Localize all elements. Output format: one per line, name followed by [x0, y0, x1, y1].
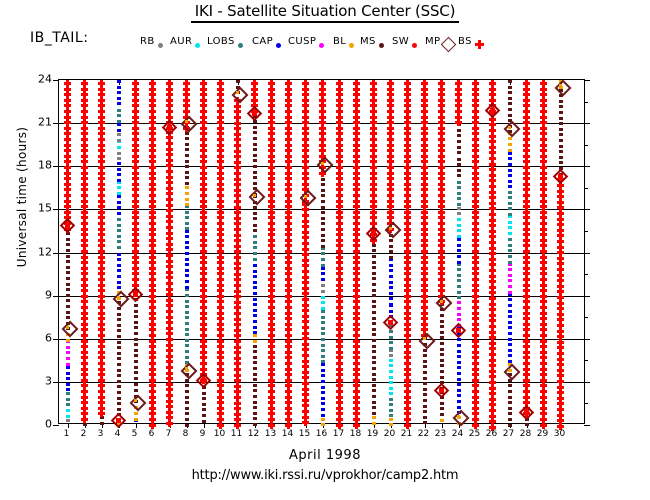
region-sample-bl: [389, 423, 393, 426]
region-sample-cap: [117, 253, 121, 256]
region-sample-cap: [457, 249, 461, 252]
region-sample-ms: [117, 402, 121, 405]
region-sample-lobs: [508, 244, 512, 247]
legend-item-cusp: CUSP: [288, 33, 324, 51]
plot-area: [58, 79, 585, 424]
x-axis-title: April 1998: [0, 448, 650, 463]
magnetopause-crossing-center: [423, 337, 426, 340]
y-axis-tick: [53, 425, 59, 426]
region-sample-ms: [185, 154, 189, 157]
region-sample-cap: [389, 292, 393, 295]
region-sample-ms: [134, 360, 138, 363]
bow-shock-crossing-marker: [164, 122, 175, 133]
region-sample-cap: [117, 281, 121, 284]
region-sample-ms: [134, 354, 138, 357]
region-sample-ms: [66, 260, 70, 263]
region-sample-cap: [253, 314, 257, 317]
y-axis-minor-tick: [584, 145, 588, 146]
region-sample-ms: [372, 272, 376, 275]
region-sample-ms: [372, 395, 376, 398]
region-sample-ms: [134, 371, 138, 374]
region-sample-ms: [253, 176, 257, 179]
day-column: [149, 80, 156, 423]
region-sample-ms: [66, 294, 70, 297]
region-sample-ms: [185, 396, 189, 399]
region-sample-cap: [389, 286, 393, 289]
region-sample-cap: [185, 269, 189, 272]
region-sample-ms: [508, 108, 512, 111]
bow-shock-marker: [404, 422, 411, 429]
bow-shock-marker: [268, 422, 275, 429]
x-axis-tick-label: 9: [200, 429, 206, 439]
region-sample-cap: [457, 406, 461, 409]
region-sample-ms: [117, 397, 121, 400]
region-sample-lobs: [389, 341, 393, 344]
x-axis-tick-label: 15: [299, 429, 310, 439]
y-axis-tick: [584, 339, 590, 340]
region-sample-lobs: [66, 398, 70, 401]
region-sample-ms: [423, 410, 427, 413]
region-sample-cap: [66, 372, 70, 375]
legend-item-label: AUR: [170, 33, 192, 51]
region-sample-lobs: [185, 211, 189, 214]
region-sample-ms: [66, 266, 70, 269]
region-sample-ms: [253, 378, 257, 381]
day-column: [557, 80, 564, 423]
region-sample-ms: [117, 307, 121, 310]
region-sample-cap: [66, 388, 70, 391]
region-sample-aur: [457, 224, 461, 227]
magnetopause-crossing-marker: [452, 410, 469, 427]
region-sample-cap: [457, 350, 461, 353]
region-sample-cap: [117, 80, 121, 83]
region-sample-lobs: [389, 403, 393, 406]
region-sample-ms: [253, 417, 257, 420]
day-column: [387, 80, 394, 423]
region-sample-cap: [389, 264, 393, 267]
x-axis-tick-label: 24: [452, 429, 463, 439]
region-sample-ms: [457, 146, 461, 149]
region-sample-cap: [508, 157, 512, 160]
bow-shock-crossing-marker: [130, 289, 141, 300]
region-sample-ms: [202, 392, 206, 395]
region-sample-cap: [66, 383, 70, 386]
region-sample-cap: [117, 258, 121, 261]
x-axis-tick-label: 10: [214, 429, 225, 439]
region-sample-cap: [117, 91, 121, 94]
day-column: [319, 80, 326, 423]
region-sample-ms: [253, 423, 257, 426]
day-column: [98, 80, 105, 423]
region-sample-ms: [185, 148, 189, 151]
region-sample-ms: [372, 373, 376, 376]
region-sample-cap: [117, 162, 121, 165]
region-sample-ms: [134, 366, 138, 369]
region-sample-lobs: [508, 191, 512, 194]
bow-shock-marker: [234, 422, 241, 429]
y-axis-tick: [584, 425, 590, 426]
x-axis-tick-label: 28: [520, 429, 531, 439]
region-sample-ms: [372, 401, 376, 404]
region-sample-ms: [440, 320, 444, 323]
region-sample-ms: [185, 182, 189, 185]
region-sample-cap: [253, 320, 257, 323]
y-axis-tick: [584, 80, 590, 81]
day-column: [234, 80, 241, 423]
region-sample-lobs: [117, 120, 121, 123]
bow-shock-marker: [285, 422, 292, 429]
bow-shock-marker: [81, 416, 88, 423]
region-sample-ms: [117, 369, 121, 372]
region-sample-lobs: [117, 229, 121, 232]
region-sample-cap: [457, 378, 461, 381]
x-axis-tick-label: 8: [183, 429, 189, 439]
y-axis-tick-label: 18: [26, 159, 52, 172]
day-column: [438, 80, 445, 423]
legend-item-sw: SW: [392, 33, 417, 51]
crossing-center: [167, 125, 172, 130]
day-column: [455, 80, 462, 423]
region-sample-ms: [185, 384, 189, 387]
region-sample-cap: [321, 402, 325, 405]
region-sample-ms: [117, 318, 121, 321]
region-sample-ms: [66, 288, 70, 291]
region-sample-rb: [66, 419, 70, 422]
region-sample-ms: [253, 212, 257, 215]
region-sample-ms: [253, 137, 257, 140]
region-sample-ms: [508, 114, 512, 117]
x-axis-tick: [442, 423, 443, 428]
region-sample-cap: [389, 310, 393, 313]
region-sample-lobs: [457, 279, 461, 282]
magnetopause-crossing-center: [440, 300, 443, 303]
bow-shock-marker: [149, 422, 156, 429]
region-sample-cap: [321, 414, 325, 417]
legend-dot-icon: [238, 40, 243, 51]
region-sample-lobs: [457, 291, 461, 294]
region-sample-ms: [423, 377, 427, 380]
magnetopause-crossing-marker: [180, 362, 197, 379]
region-sample-lobs: [457, 268, 461, 271]
region-sample-ms: [559, 150, 563, 153]
region-sample-lobs: [508, 202, 512, 205]
region-sample-ms: [440, 331, 444, 334]
region-sample-ms: [134, 310, 138, 313]
day-column: [285, 80, 292, 423]
magnetopause-crossing-center: [508, 369, 511, 372]
legend-item-cap: CAP: [252, 33, 281, 51]
region-sample-ms: [372, 311, 376, 314]
region-sample-lobs: [185, 316, 189, 319]
day-column: [251, 80, 258, 423]
magnetopause-crossing-marker: [61, 321, 78, 338]
legend-item-label: BL: [333, 33, 346, 51]
region-sample-cap: [508, 310, 512, 313]
y-axis-tick-label: 0: [26, 418, 52, 431]
bow-shock-marker: [472, 422, 479, 429]
region-sample-lobs: [389, 409, 393, 412]
region-sample-cap: [117, 269, 121, 272]
region-sample-aur: [66, 415, 70, 418]
plus-cross-icon: [475, 40, 484, 49]
region-sample-ms: [423, 371, 427, 374]
region-sample-ms: [66, 311, 70, 314]
region-sample-ms: [372, 339, 376, 342]
region-sample-ms: [440, 314, 444, 317]
region-sample-ms: [321, 222, 325, 225]
legend-item-label: SW: [392, 33, 409, 51]
region-sample-ms: [457, 140, 461, 143]
region-sample-cap: [185, 258, 189, 261]
crossing-center: [524, 410, 529, 415]
bow-shock-crossing-marker: [385, 317, 396, 328]
x-axis-tick-label: 21: [401, 429, 412, 439]
region-sample-lobs: [321, 327, 325, 330]
region-sample-ms: [372, 350, 376, 353]
y-axis-minor-tick: [584, 231, 588, 232]
region-sample-cusp: [457, 318, 461, 321]
bow-shock-crossing-marker: [555, 171, 566, 182]
region-sample-ms: [457, 151, 461, 154]
region-sample-ms: [508, 102, 512, 105]
region-sample-ms: [372, 406, 376, 409]
y-axis-minor-tick: [584, 360, 588, 361]
region-sample-ms: [253, 165, 257, 168]
region-sample-cap: [253, 326, 257, 329]
x-axis-tick-label: 7: [166, 429, 172, 439]
y-axis-tick: [53, 166, 59, 167]
region-sample-cap: [389, 275, 393, 278]
region-sample-ms: [389, 250, 393, 253]
region-sample-cap: [508, 349, 512, 352]
y-axis-tick: [53, 209, 59, 210]
region-sample-cusp: [457, 301, 461, 304]
region-sample-cap: [117, 195, 121, 198]
region-sample-ms: [440, 353, 444, 356]
region-sample-ms: [134, 349, 138, 352]
region-sample-ms: [440, 364, 444, 367]
region-sample-ms: [253, 148, 257, 151]
region-sample-ms: [508, 384, 512, 387]
day-column: [370, 80, 377, 423]
region-sample-aur: [457, 218, 461, 221]
legend-item-label: LOBS: [207, 33, 235, 51]
x-axis-tick-label: 11: [231, 429, 242, 439]
legend-dot-icon: [349, 40, 354, 51]
region-sample-cap: [508, 338, 512, 341]
legend-group-label: IB_TAIL:: [30, 30, 88, 46]
region-sample-cap: [457, 361, 461, 364]
x-axis-tick-label: 18: [350, 429, 361, 439]
x-axis-tick-label: 30: [554, 429, 565, 439]
x-axis-tick-label: 3: [98, 429, 104, 439]
legend-item-label: CAP: [252, 33, 273, 51]
region-sample-bl: [134, 418, 138, 421]
region-sample-ms: [440, 359, 444, 362]
region-sample-bl: [508, 137, 512, 140]
region-sample-aur: [389, 359, 393, 362]
region-sample-ms: [253, 389, 257, 392]
region-sample-ms: [457, 174, 461, 177]
region-sample-ms: [253, 367, 257, 370]
legend-dot-icon: [412, 40, 417, 51]
region-sample-ms: [372, 300, 376, 303]
region-sample-lobs: [321, 252, 325, 255]
region-sample-aur: [389, 392, 393, 395]
region-sample-cap: [66, 377, 70, 380]
region-sample-ms: [372, 289, 376, 292]
region-sample-ms: [372, 244, 376, 247]
magnetopause-crossing-marker: [129, 394, 146, 411]
region-sample-lobs: [389, 336, 393, 339]
region-sample-ms: [321, 245, 325, 248]
region-sample-cusp: [508, 274, 512, 277]
region-sample-lobs: [321, 332, 325, 335]
region-sample-ms: [202, 408, 206, 411]
region-sample-rb: [117, 133, 121, 136]
day-column: [523, 80, 530, 423]
region-sample-ms: [253, 406, 257, 409]
region-sample-ms: [440, 342, 444, 345]
region-sample-ms: [117, 380, 121, 383]
region-sample-cap: [117, 97, 121, 100]
y-axis-tick-label: 12: [26, 245, 52, 258]
x-axis-tick: [68, 423, 69, 428]
bow-shock-crossing-marker: [249, 108, 260, 119]
region-sample-lobs: [457, 186, 461, 189]
region-sample-aur: [508, 232, 512, 235]
crossing-center: [252, 111, 257, 116]
region-sample-lobs: [457, 203, 461, 206]
magnetopause-crossing-marker: [503, 364, 520, 381]
region-sample-cap: [508, 174, 512, 177]
region-sample-cap: [321, 380, 325, 383]
y-axis-minor-tick: [584, 403, 588, 404]
legend-dot-icon: [195, 40, 200, 51]
magnetopause-crossing-center: [66, 326, 69, 329]
region-sample-cap: [389, 281, 393, 284]
region-sample-ms: [134, 321, 138, 324]
region-sample-ms: [372, 412, 376, 415]
region-sample-cap: [508, 315, 512, 318]
day-column: [217, 80, 224, 423]
region-sample-ms: [253, 412, 257, 415]
region-sample-ms: [372, 283, 376, 286]
region-sample-ms: [253, 143, 257, 146]
region-sample-lobs: [185, 350, 189, 353]
region-sample-ms: [389, 256, 393, 259]
region-sample-cap: [457, 372, 461, 375]
region-sample-cap: [321, 408, 325, 411]
region-sample-ms: [253, 361, 257, 364]
region-sample-cap: [117, 86, 121, 89]
region-sample-ms: [253, 182, 257, 185]
region-sample-ms: [83, 423, 87, 426]
region-sample-ms: [559, 133, 563, 136]
region-sample-ms: [185, 407, 189, 410]
region-sample-ms: [372, 317, 376, 320]
region-sample-ms: [423, 399, 427, 402]
region-sample-cap: [253, 275, 257, 278]
bow-shock-marker: [353, 422, 360, 429]
region-sample-rb: [321, 284, 325, 287]
y-axis-tick: [53, 253, 59, 254]
region-sample-ms: [253, 229, 257, 232]
region-sample-ms: [559, 161, 563, 164]
region-sample-lobs: [253, 246, 257, 249]
region-sample-aur: [66, 409, 70, 412]
region-sample-cap: [457, 366, 461, 369]
region-sample-aur: [117, 146, 121, 149]
region-sample-cap: [508, 321, 512, 324]
y-axis-minor-tick: [584, 274, 588, 275]
region-sample-ms: [134, 343, 138, 346]
ssc-plot-page: IKI - Satellite Situation Center (SSC) I…: [0, 0, 650, 500]
region-sample-lobs: [508, 255, 512, 258]
region-sample-cap: [457, 338, 461, 341]
region-sample-lobs: [117, 109, 121, 112]
x-axis-tick-label: 25: [469, 429, 480, 439]
x-axis-tick-label: 16: [316, 429, 327, 439]
legend-item-label: BS: [458, 33, 472, 51]
region-sample-ms: [440, 407, 444, 410]
region-sample-ms: [66, 283, 70, 286]
region-sample-ms: [423, 388, 427, 391]
region-sample-cap: [457, 344, 461, 347]
magnetopause-crossing-center: [389, 227, 392, 230]
legend-item-label: CUSP: [288, 33, 316, 51]
region-sample-lobs: [185, 294, 189, 297]
region-sample-cap: [185, 241, 189, 244]
region-sample-ms: [508, 390, 512, 393]
magnetopause-crossing-center: [304, 195, 307, 198]
magnetopause-crossing-marker: [112, 291, 129, 308]
crossing-center: [490, 108, 495, 113]
y-axis-tick: [584, 382, 590, 383]
legend-item-label: MP: [425, 33, 440, 51]
region-sample-lobs: [389, 330, 393, 333]
filled-circle-icon: [238, 43, 243, 48]
page-title: IKI - Satellite Situation Center (SSC): [0, 2, 650, 23]
day-column: [115, 80, 122, 423]
region-sample-cap: [457, 238, 461, 241]
region-sample-ms: [253, 224, 257, 227]
region-sample-ms: [185, 160, 189, 163]
magnetopause-crossing-marker: [248, 189, 265, 206]
legend-item-bs: BS: [458, 33, 484, 51]
region-sample-ms: [185, 137, 189, 140]
region-sample-lobs: [389, 398, 393, 401]
region-sample-ms: [117, 324, 121, 327]
y-axis-tick-label: 9: [26, 288, 52, 301]
region-sample-ms: [66, 316, 70, 319]
y-axis-tick: [53, 80, 59, 81]
region-sample-lobs: [185, 328, 189, 331]
region-sample-rb: [321, 290, 325, 293]
region-sample-ms: [372, 378, 376, 381]
filled-circle-icon: [319, 43, 324, 48]
region-sample-aur: [321, 296, 325, 299]
y-axis-minor-tick: [584, 317, 588, 318]
filled-circle-icon: [349, 43, 354, 48]
region-sample-cap: [253, 303, 257, 306]
region-sample-bl: [321, 423, 325, 426]
region-sample-cap: [389, 303, 393, 306]
region-sample-ms: [202, 397, 206, 400]
region-sample-ms: [321, 211, 325, 214]
y-axis-tick-label: 15: [26, 202, 52, 215]
legend-item-mp: MP: [425, 33, 454, 51]
